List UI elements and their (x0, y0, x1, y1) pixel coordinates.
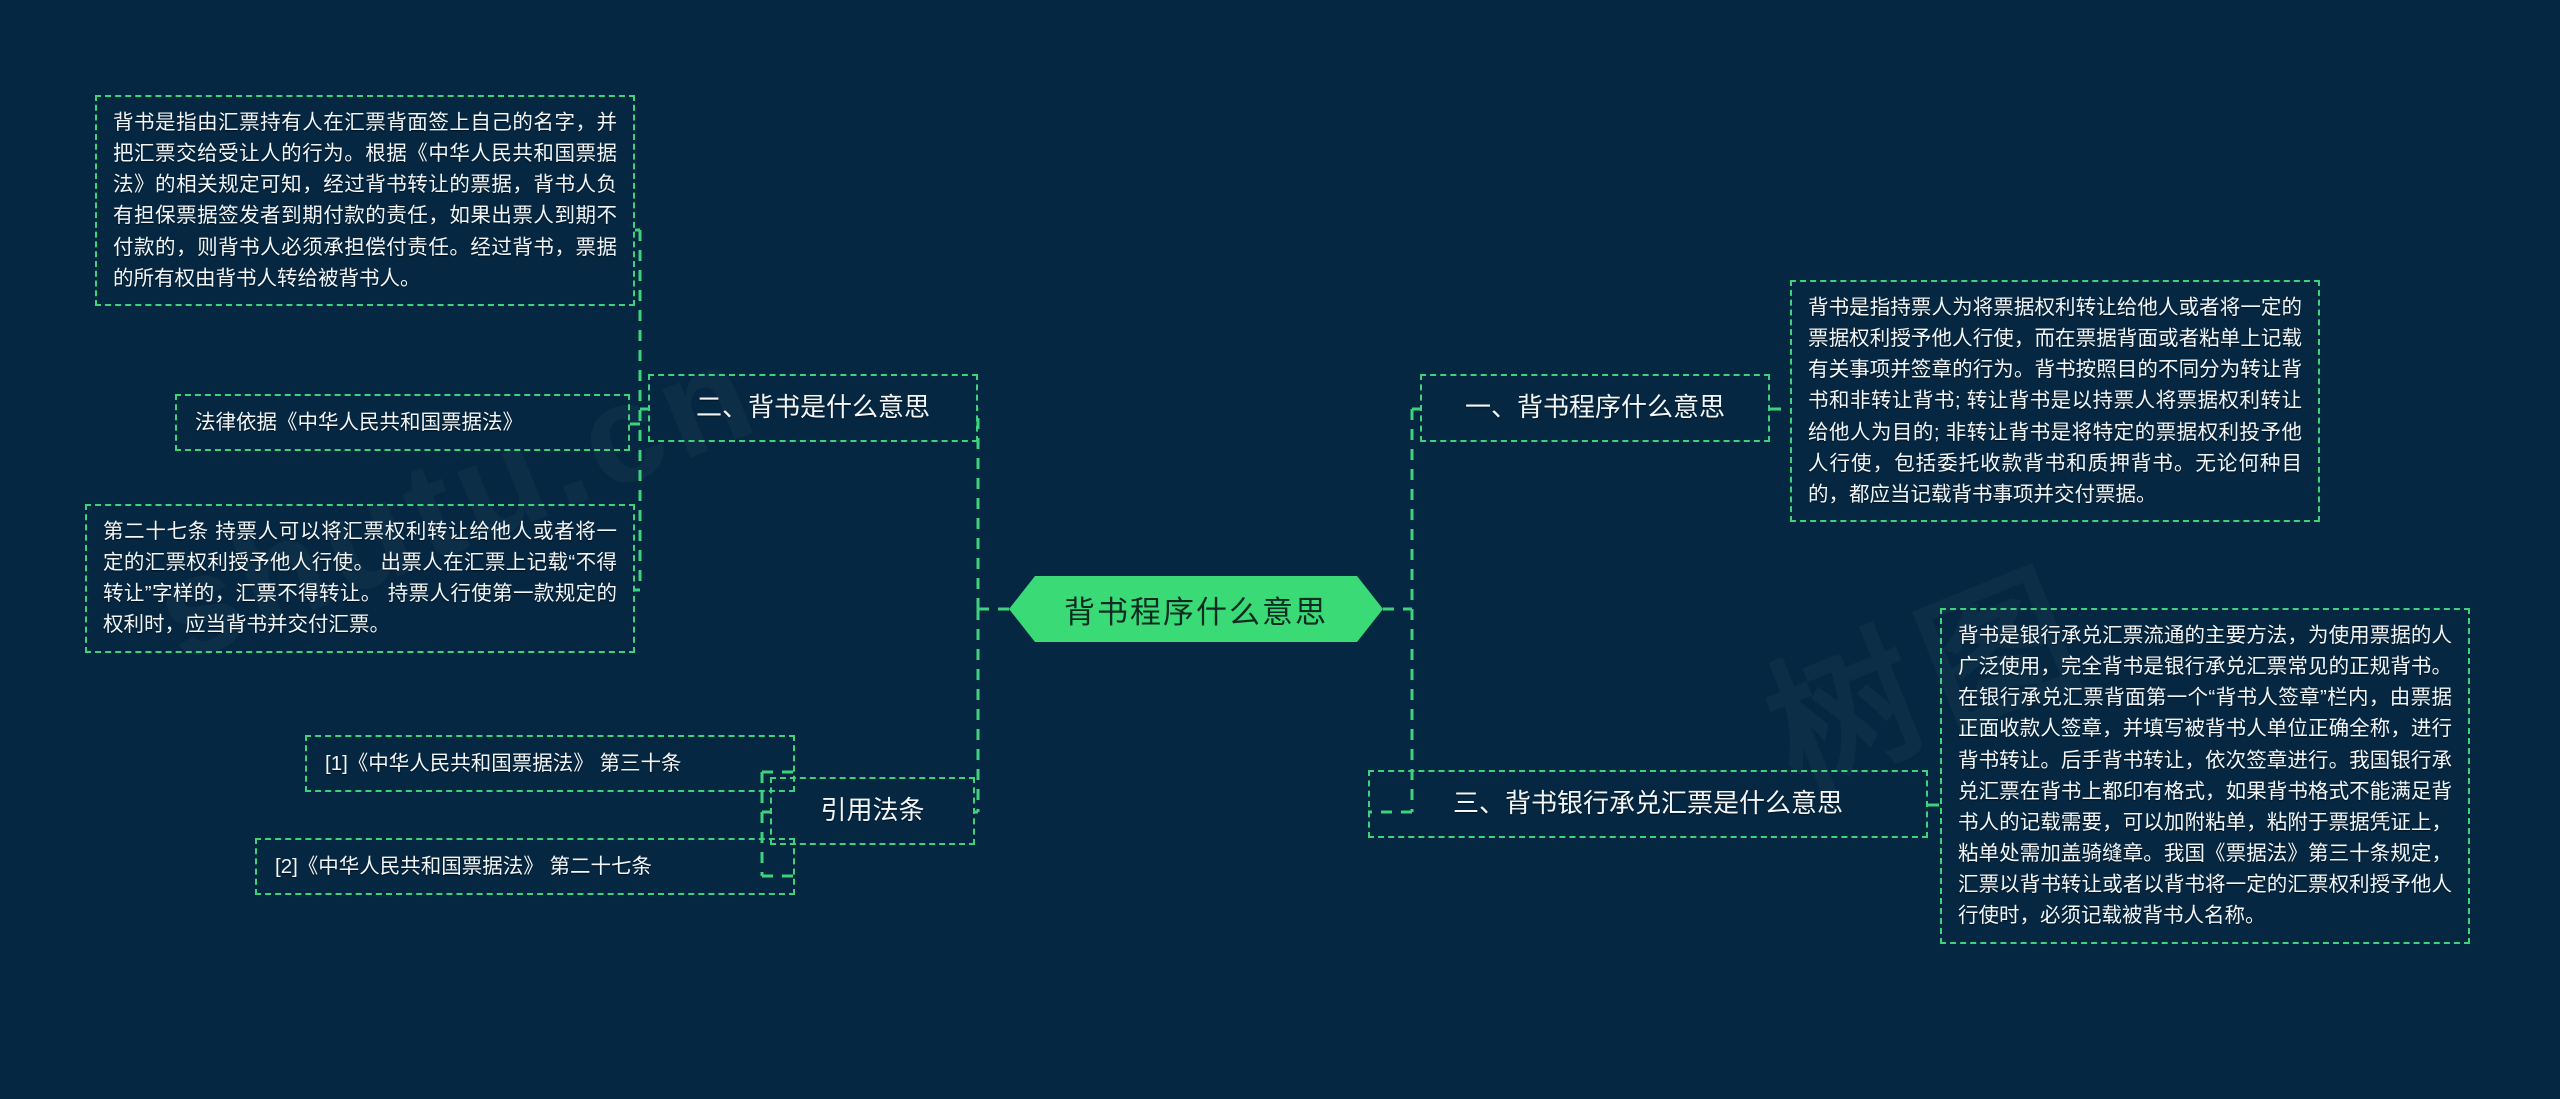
node-endorsement-definition[interactable]: 背书是指由汇票持有人在汇票背面签上自己的名字，并把汇票交给受让人的行为。根据《中… (95, 95, 635, 306)
root-node-label: 背书程序什么意思 (1064, 587, 1328, 632)
node-cited-statutes[interactable]: 引用法条 (770, 777, 975, 845)
node-bank-acceptance-detail[interactable]: 背书是银行承兑汇票流通的主要方法，为使用票据的人广泛使用，完全背书是银行承兑汇票… (1940, 608, 2470, 944)
node-branch-1-endorsement-procedure[interactable]: 一、背书程序什么意思 (1420, 374, 1770, 442)
node-reference-1[interactable]: [1]《中华人民共和国票据法》 第三十条 (305, 735, 795, 792)
node-endorsement-meaning[interactable]: 背书是指持票人为将票据权利转让给他人或者将一定的票据权利授予他人行使，而在票据背… (1790, 280, 2320, 522)
node-branch-3-bank-acceptance-endorsement[interactable]: 三、背书银行承兑汇票是什么意思 (1368, 770, 1928, 838)
node-legal-basis[interactable]: 法律依据《中华人民共和国票据法》 (175, 394, 630, 451)
node-reference-2[interactable]: [2]《中华人民共和国票据法》 第二十七条 (255, 838, 795, 895)
mindmap-canvas: shutu.cn 树图 (0, 0, 2560, 1099)
node-branch-2-what-is-endorsement[interactable]: 二、背书是什么意思 (648, 374, 978, 442)
root-node[interactable]: 背书程序什么意思 (1009, 576, 1383, 642)
node-article-27[interactable]: 第二十七条 持票人可以将汇票权利转让给他人或者将一定的汇票权利授予他人行使。 出… (85, 504, 635, 653)
